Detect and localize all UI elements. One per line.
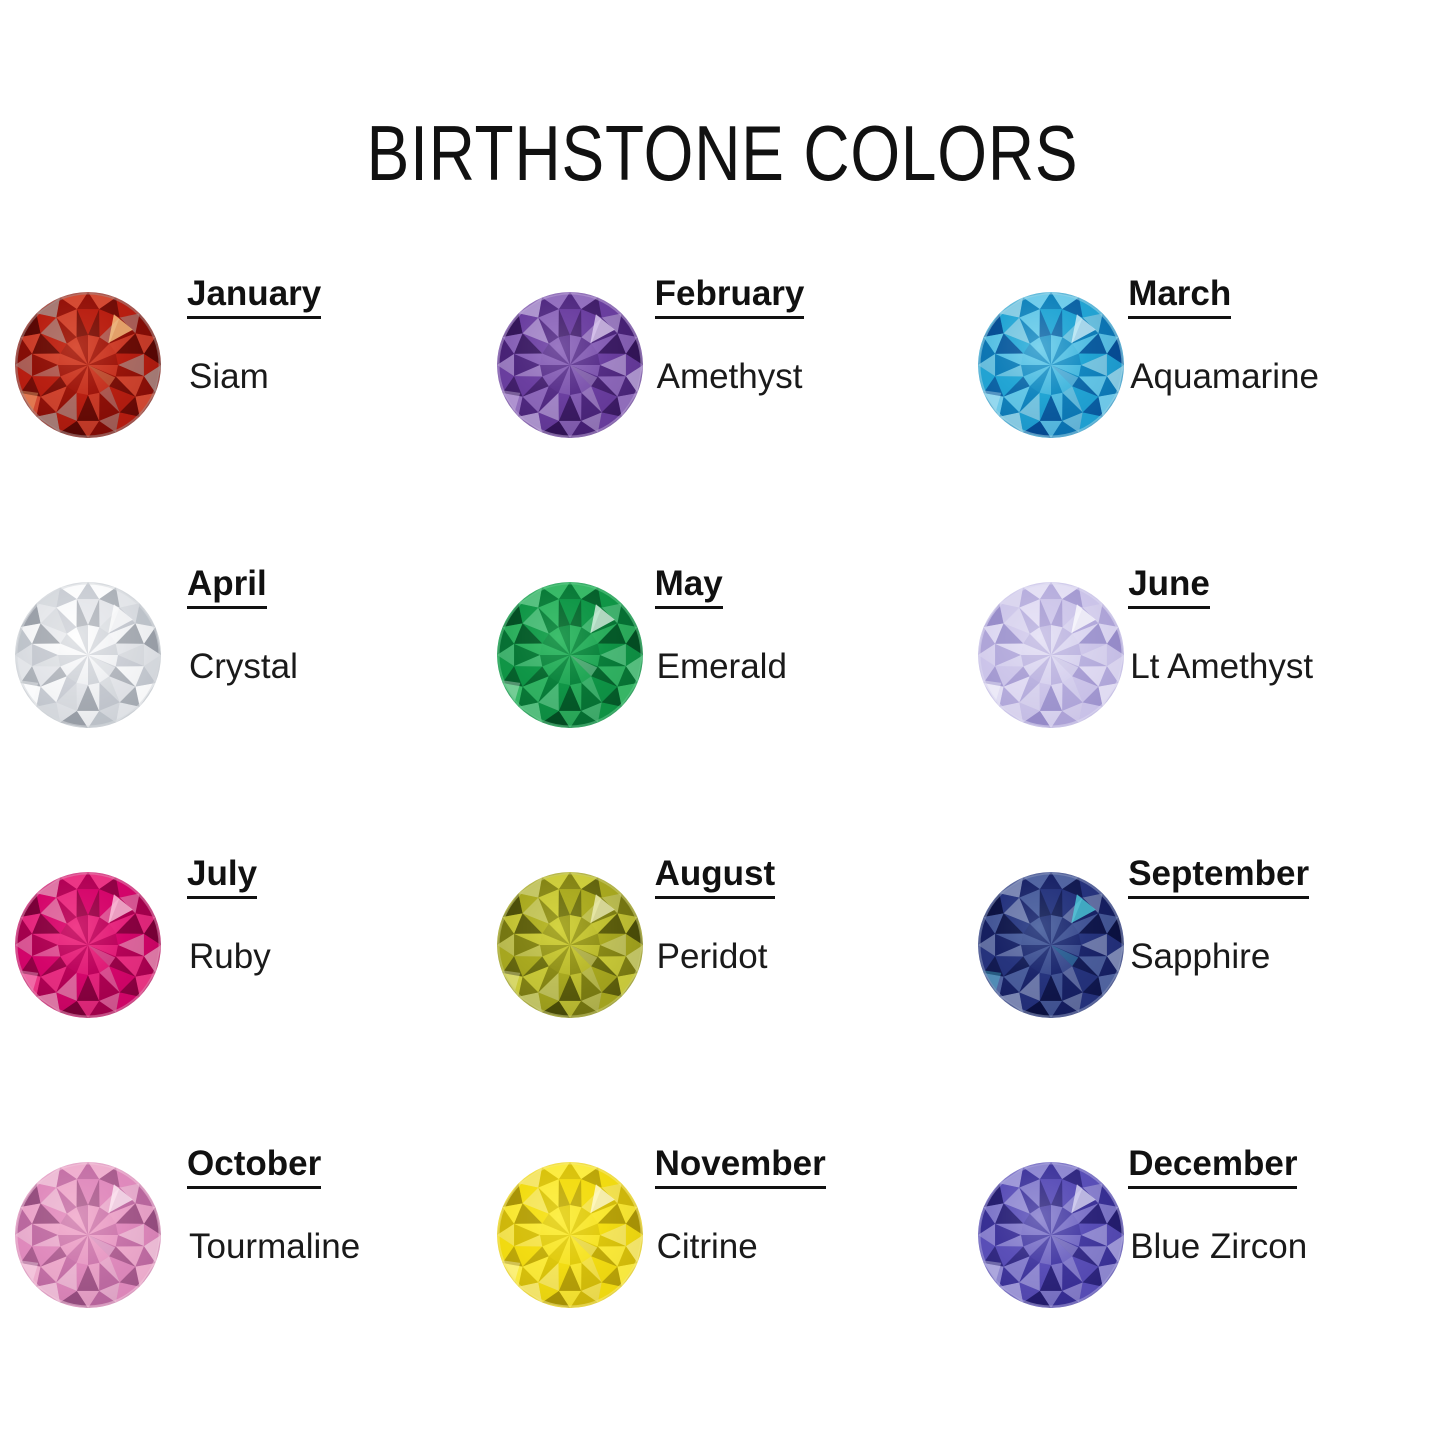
round-brilliant-gem-icon: [13, 290, 163, 440]
birthstone-text: NovemberCitrine: [645, 1118, 964, 1267]
birthstone-chart-page: BIRTHSTONE COLORS JanuarySiamFebruaryAme…: [0, 0, 1445, 1444]
stone-name: Lt Amethyst: [1130, 647, 1313, 687]
stone-name: Siam: [189, 357, 269, 397]
birthstone-grid: JanuarySiamFebruaryAmethystMarchAquamari…: [0, 248, 1445, 1408]
birthstone-text: AugustPeridot: [645, 828, 964, 977]
birthstone-cell: DecemberBlue Zircon: [963, 1118, 1445, 1408]
month-label: May: [655, 566, 723, 609]
round-brilliant-gem-icon: [13, 580, 163, 730]
birthstone-cell: JanuarySiam: [0, 248, 482, 538]
stone-name: Crystal: [189, 647, 298, 687]
stone-name: Peridot: [657, 937, 768, 977]
stone-name: Ruby: [189, 937, 271, 977]
month-label: December: [1128, 1146, 1297, 1189]
stone-name: Citrine: [657, 1227, 758, 1267]
month-label: October: [187, 1146, 321, 1189]
month-label: August: [655, 856, 776, 899]
birthstone-text: AprilCrystal: [163, 538, 482, 687]
month-label: September: [1128, 856, 1309, 899]
birthstone-cell: JuneLt Amethyst: [963, 538, 1445, 828]
birthstone-text: DecemberBlue Zircon: [1126, 1118, 1445, 1267]
month-label: November: [655, 1146, 826, 1189]
birthstone-text: MayEmerald: [645, 538, 964, 687]
stone-name: Aquamarine: [1130, 357, 1319, 397]
birthstone-cell: AprilCrystal: [0, 538, 482, 828]
birthstone-cell: MarchAquamarine: [963, 248, 1445, 538]
birthstone-text: JanuarySiam: [163, 248, 482, 397]
stone-name: Sapphire: [1130, 937, 1270, 977]
round-brilliant-gem-icon: [976, 1160, 1126, 1310]
stone-name: Blue Zircon: [1130, 1227, 1307, 1267]
page-title: BIRTHSTONE COLORS: [130, 108, 1315, 199]
stone-name: Tourmaline: [189, 1227, 360, 1267]
round-brilliant-gem-icon: [976, 290, 1126, 440]
month-label: January: [187, 276, 321, 319]
stone-name: Emerald: [657, 647, 787, 687]
month-label: June: [1128, 566, 1210, 609]
month-label: March: [1128, 276, 1231, 319]
round-brilliant-gem-icon: [13, 1160, 163, 1310]
stone-name: Amethyst: [657, 357, 803, 397]
birthstone-cell: JulyRuby: [0, 828, 482, 1118]
round-brilliant-gem-icon: [495, 1160, 645, 1310]
birthstone-text: MarchAquamarine: [1126, 248, 1445, 397]
round-brilliant-gem-icon: [976, 580, 1126, 730]
month-label: February: [655, 276, 805, 319]
month-label: April: [187, 566, 267, 609]
birthstone-text: OctoberTourmaline: [163, 1118, 482, 1267]
birthstone-cell: FebruaryAmethyst: [482, 248, 964, 538]
month-label: July: [187, 856, 257, 899]
birthstone-cell: MayEmerald: [482, 538, 964, 828]
birthstone-cell: SeptemberSapphire: [963, 828, 1445, 1118]
round-brilliant-gem-icon: [13, 870, 163, 1020]
birthstone-cell: OctoberTourmaline: [0, 1118, 482, 1408]
round-brilliant-gem-icon: [976, 870, 1126, 1020]
birthstone-cell: AugustPeridot: [482, 828, 964, 1118]
birthstone-text: JuneLt Amethyst: [1126, 538, 1445, 687]
round-brilliant-gem-icon: [495, 870, 645, 1020]
birthstone-cell: NovemberCitrine: [482, 1118, 964, 1408]
round-brilliant-gem-icon: [495, 580, 645, 730]
round-brilliant-gem-icon: [495, 290, 645, 440]
birthstone-text: FebruaryAmethyst: [645, 248, 964, 397]
birthstone-text: JulyRuby: [163, 828, 482, 977]
birthstone-text: SeptemberSapphire: [1126, 828, 1445, 977]
